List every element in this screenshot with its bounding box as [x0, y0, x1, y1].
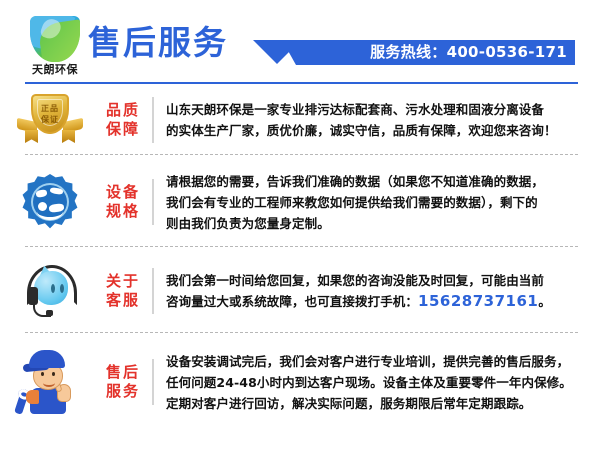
mascot-eye-left — [51, 284, 55, 293]
company-logo: 天朗环保 — [22, 16, 88, 78]
mobile-phone-number[interactable]: 15628737161 — [418, 292, 538, 310]
page-header: 天朗环保 售后服务 服务热线：400-0536-171 — [0, 0, 600, 84]
globe-land-1 — [35, 189, 47, 198]
row-after-sales: 售后 服务 设备安装调试完后，我们会对客户进行专业培训，提供完善的售后服务， 任… — [0, 334, 600, 430]
row-body-line3: 定期对客户进行回访，解决实际问题，服务期限后常年定期跟踪。 — [166, 393, 578, 414]
row-icon-container — [0, 248, 100, 334]
row-label-line1: 设备 — [100, 183, 146, 202]
badge-text-line2: 保证 — [31, 114, 69, 125]
row-body-line1: 山东天朗环保是一家专业排污达标配套商、污水处理和固液分离设备 — [166, 99, 578, 120]
row-icon-container — [0, 334, 100, 430]
row-body-line1: 我们会第一时间给您回复，如果您的咨询没能及时回复，可能由当前 — [166, 270, 578, 291]
row-label-line2: 保障 — [100, 120, 146, 139]
mascot-eye-right — [60, 284, 64, 293]
worker-thumbsup-icon — [17, 348, 83, 416]
row-label-line1: 品质 — [100, 101, 146, 120]
hotline-banner: 服务热线：400-0536-171 — [296, 40, 575, 65]
blue-gear-globe-icon — [22, 174, 78, 230]
headset-mascot-icon — [19, 262, 81, 320]
row-customer-service: 关于 客服 我们会第一时间给您回复，如果您的咨询没能及时回复，可能由当前 咨询量… — [0, 248, 600, 334]
globe-land-2 — [50, 187, 64, 195]
page-title: 售后服务 — [88, 24, 228, 62]
row-body-line2: 任何问题24-48小时内到达客户现场。设备主体及重要零件一年内保修。 — [166, 372, 578, 393]
headset-mic — [46, 310, 53, 316]
logo-company-name: 天朗环保 — [22, 61, 88, 77]
gold-shield-badge-icon: 正品 保证 — [17, 92, 83, 148]
row-body-equipment: 请根据您的需要，告诉我们准确的数据（如果您不知道准确的数据， 我们会有专业的工程… — [166, 171, 600, 234]
worker-thumb — [57, 384, 71, 402]
row-body-line2: 我们会有专业的工程师来教您如何提供给我们需要的数据），剩下的 — [166, 192, 578, 213]
row-body-line1: 设备安装调试完后，我们会对客户进行专业培训，提供完善的售后服务， — [166, 351, 578, 372]
row-body-line2-post: 。 — [538, 294, 551, 309]
row-equipment-spec: 设备 规格 请根据您的需要，告诉我们准确的数据（如果您不知道准确的数据， 我们会… — [0, 156, 600, 248]
row-separator — [25, 154, 578, 155]
worker-eye-right — [52, 372, 55, 376]
row-icon-container: 正品 保证 — [0, 84, 100, 156]
row-icon-container — [0, 156, 100, 248]
worker-cap — [29, 350, 65, 368]
hotline-text: 服务热线：400-0536-171 — [370, 40, 567, 65]
row-body-line1: 请根据您的需要，告诉我们准确的数据（如果您不知道准确的数据， — [166, 171, 578, 192]
globe-smile — [37, 203, 63, 220]
logo-gloss — [39, 17, 63, 42]
row-label-line2: 客服 — [100, 291, 146, 310]
row-body-line2: 咨询量过大或系统故障，也可直接拨打手机：15628737161。 — [166, 291, 578, 312]
worker-mouth — [43, 379, 55, 387]
row-label-line2: 规格 — [100, 202, 146, 221]
after-sales-service-page: 天朗环保 售后服务 服务热线：400-0536-171 正品 保证 品质 保障 — [0, 0, 600, 450]
row-separator — [25, 246, 578, 247]
row-label-after-sales: 售后 服务 — [100, 363, 146, 401]
row-quality-guarantee: 正品 保证 品质 保障 山东天朗环保是一家专业排污达标配套商、污水处理和固液分离… — [0, 84, 600, 156]
shield-leaf-logo-icon — [30, 16, 80, 62]
label-divider — [152, 268, 154, 314]
label-divider — [152, 359, 154, 405]
row-label-line1: 售后 — [100, 363, 146, 382]
row-body-line3: 则由我们负责为您量身定制。 — [166, 213, 578, 234]
row-separator — [25, 332, 578, 333]
row-body-quality: 山东天朗环保是一家专业排污达标配套商、污水处理和固液分离设备 的实体生产厂家，质… — [166, 99, 600, 141]
row-body-line2: 的实体生产厂家，质优价廉，诚实守信，品质有保障，欢迎您来咨询！ — [166, 120, 578, 141]
label-divider — [152, 97, 154, 143]
badge-text-line1: 正品 — [31, 103, 69, 114]
row-label-service: 关于 客服 — [100, 272, 146, 310]
ribbon-tail-right — [62, 130, 75, 143]
ribbon-tail-left — [25, 130, 38, 143]
worker-sleeve — [26, 390, 39, 404]
row-label-quality: 品质 保障 — [100, 101, 146, 139]
gear-hub — [31, 183, 69, 221]
label-divider — [152, 179, 154, 225]
row-label-equipment: 设备 规格 — [100, 183, 146, 221]
row-body-after-sales: 设备安装调试完后，我们会对客户进行专业培训，提供完善的售后服务， 任何问题24-… — [166, 351, 600, 414]
row-label-line1: 关于 — [100, 272, 146, 291]
row-body-line2-pre: 咨询量过大或系统故障，也可直接拨打手机： — [166, 294, 418, 309]
row-label-line2: 服务 — [100, 382, 146, 401]
row-body-service: 我们会第一时间给您回复，如果您的咨询没能及时回复，可能由当前 咨询量过大或系统故… — [166, 270, 600, 312]
worker-eye-left — [41, 372, 44, 376]
